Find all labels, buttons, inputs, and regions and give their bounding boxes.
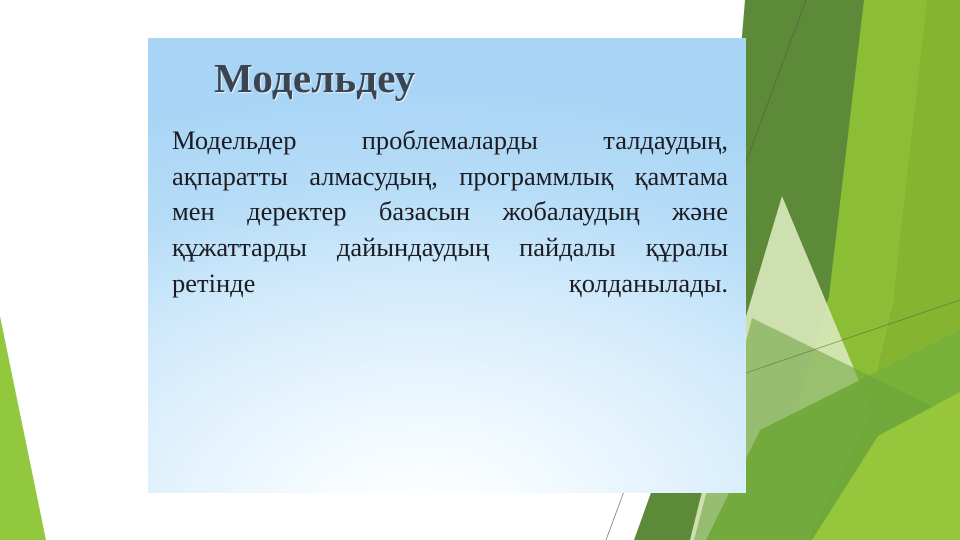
green-shape-bottom-bright (812, 392, 960, 540)
page-title: Модельдеу (214, 54, 415, 102)
content-panel-inner: Модельдеу Модельдер проблемаларды талдау… (148, 38, 746, 493)
green-shape-lime-band (742, 0, 927, 540)
green-shape-left-triangle (0, 316, 46, 540)
slide-body-text: Модельдер проблемаларды талдаудың, ақпар… (172, 123, 728, 337)
slide: Модельдеу Модельдер проблемаларды талдау… (0, 0, 960, 540)
green-shape-right-bright (836, 0, 960, 540)
content-panel: Модельдеу Модельдер проблемаларды талдау… (148, 38, 746, 493)
